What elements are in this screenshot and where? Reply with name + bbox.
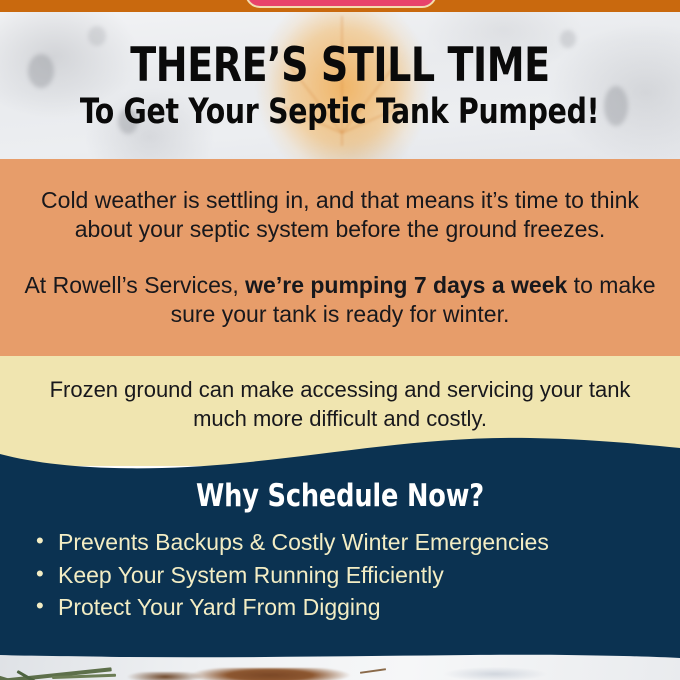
top-orange-strip bbox=[0, 0, 680, 12]
headline-secondary: To Get Your Septic Tank Pumped! bbox=[80, 95, 599, 130]
orange-paragraph-2: At Rowell’s Services, we’re pumping 7 da… bbox=[10, 271, 670, 330]
orange-paragraph-2-prefix: At Rowell’s Services, bbox=[24, 272, 245, 298]
list-item: Protect Your Yard From Digging bbox=[30, 591, 650, 624]
orange-paragraph-1: Cold weather is settling in, and that me… bbox=[10, 186, 670, 245]
header-text-block: THERE’S STILL TIME To Get Your Septic Ta… bbox=[0, 12, 680, 159]
header-hero: THERE’S STILL TIME To Get Your Septic Ta… bbox=[0, 12, 680, 159]
cream-paragraph: Frozen ground can make accessing and ser… bbox=[28, 376, 652, 433]
headline-primary: THERE’S STILL TIME bbox=[130, 42, 549, 89]
list-item: Keep Your System Running Efficiently bbox=[30, 559, 650, 592]
list-item: Prevents Backups & Costly Winter Emergen… bbox=[30, 526, 650, 559]
navy-content: Why Schedule Now? Prevents Backups & Cos… bbox=[0, 430, 680, 660]
snow-shadow bbox=[430, 666, 560, 680]
why-schedule-heading: Why Schedule Now? bbox=[27, 478, 653, 514]
orange-message-section: Cold weather is settling in, and that me… bbox=[0, 159, 680, 356]
cta-pill-button[interactable] bbox=[245, 0, 437, 8]
benefits-list: Prevents Backups & Costly Winter Emergen… bbox=[30, 526, 650, 624]
orange-paragraph-2-bold: we’re pumping 7 days a week bbox=[245, 272, 567, 298]
navy-benefits-section: Why Schedule Now? Prevents Backups & Cos… bbox=[0, 430, 680, 660]
poster-root: THERE’S STILL TIME To Get Your Septic Ta… bbox=[0, 0, 680, 680]
dirt-patch-secondary bbox=[120, 672, 210, 680]
